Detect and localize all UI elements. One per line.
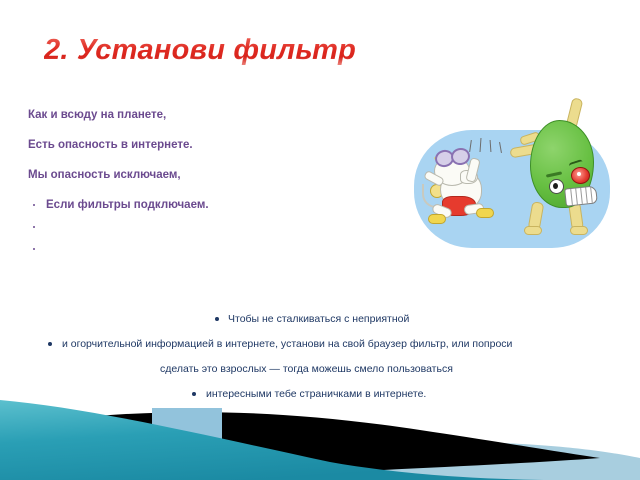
continuation-line: сделать это взрослых — тогда можешь смел…	[0, 362, 640, 387]
small-bullet-icon	[33, 226, 35, 228]
monster-foot	[570, 226, 588, 235]
monster-mouth-teeth	[564, 185, 598, 206]
monster-eyebrow	[546, 171, 562, 177]
speed-line	[469, 140, 472, 152]
swoosh-white-gap	[0, 394, 96, 400]
speed-line	[499, 142, 502, 153]
poem-bullet-row: Если фильтры подключаем.	[28, 198, 278, 220]
poem-empty-bullet-row	[28, 220, 278, 242]
small-bullet-icon	[33, 248, 35, 250]
monster-body	[530, 120, 594, 208]
speed-line	[480, 138, 482, 152]
bullet-icon	[48, 342, 52, 346]
monster-eye-highlight	[577, 172, 581, 176]
mouse-shoe	[428, 214, 446, 224]
bullet-icon	[215, 317, 219, 321]
bulleted-line: Чтобы не сталкиваться с неприятной	[0, 312, 640, 337]
bottom-swoosh-graphic	[0, 394, 640, 480]
line-text: Чтобы не сталкиваться с неприятной	[228, 312, 409, 326]
presentation-slide: 2. Установи фильтр 2. Установи фильтр Ка…	[0, 0, 640, 480]
bulleted-line: и огорчительной информацией в интернете,…	[0, 337, 640, 362]
poem-line: Мы опасность исключаем,	[28, 168, 278, 182]
monster-pupil	[553, 183, 558, 189]
poem-block: Как и всюду на планете, Есть опасность в…	[28, 108, 278, 264]
poem-line: Есть опасность в интернете.	[28, 138, 278, 152]
monster-eye-red	[571, 167, 590, 184]
illustration-virus-chasing-mouse	[404, 92, 619, 272]
green-virus-monster-icon	[516, 98, 606, 238]
mouse-shoe	[476, 208, 494, 218]
poem-line: Если фильтры подключаем.	[28, 198, 278, 212]
poem-empty-bullet-row	[28, 242, 278, 264]
page-title: 2. Установи фильтр	[44, 34, 356, 67]
poem-line: Как и всюду на планете,	[28, 108, 278, 122]
line-text: и огорчительной информацией в интернете,…	[62, 337, 512, 351]
small-bullet-icon	[33, 204, 35, 206]
line-text: сделать это взрослых — тогда можешь смел…	[160, 362, 453, 376]
running-mouse-character-icon	[418, 144, 510, 240]
monster-foot	[524, 226, 542, 235]
